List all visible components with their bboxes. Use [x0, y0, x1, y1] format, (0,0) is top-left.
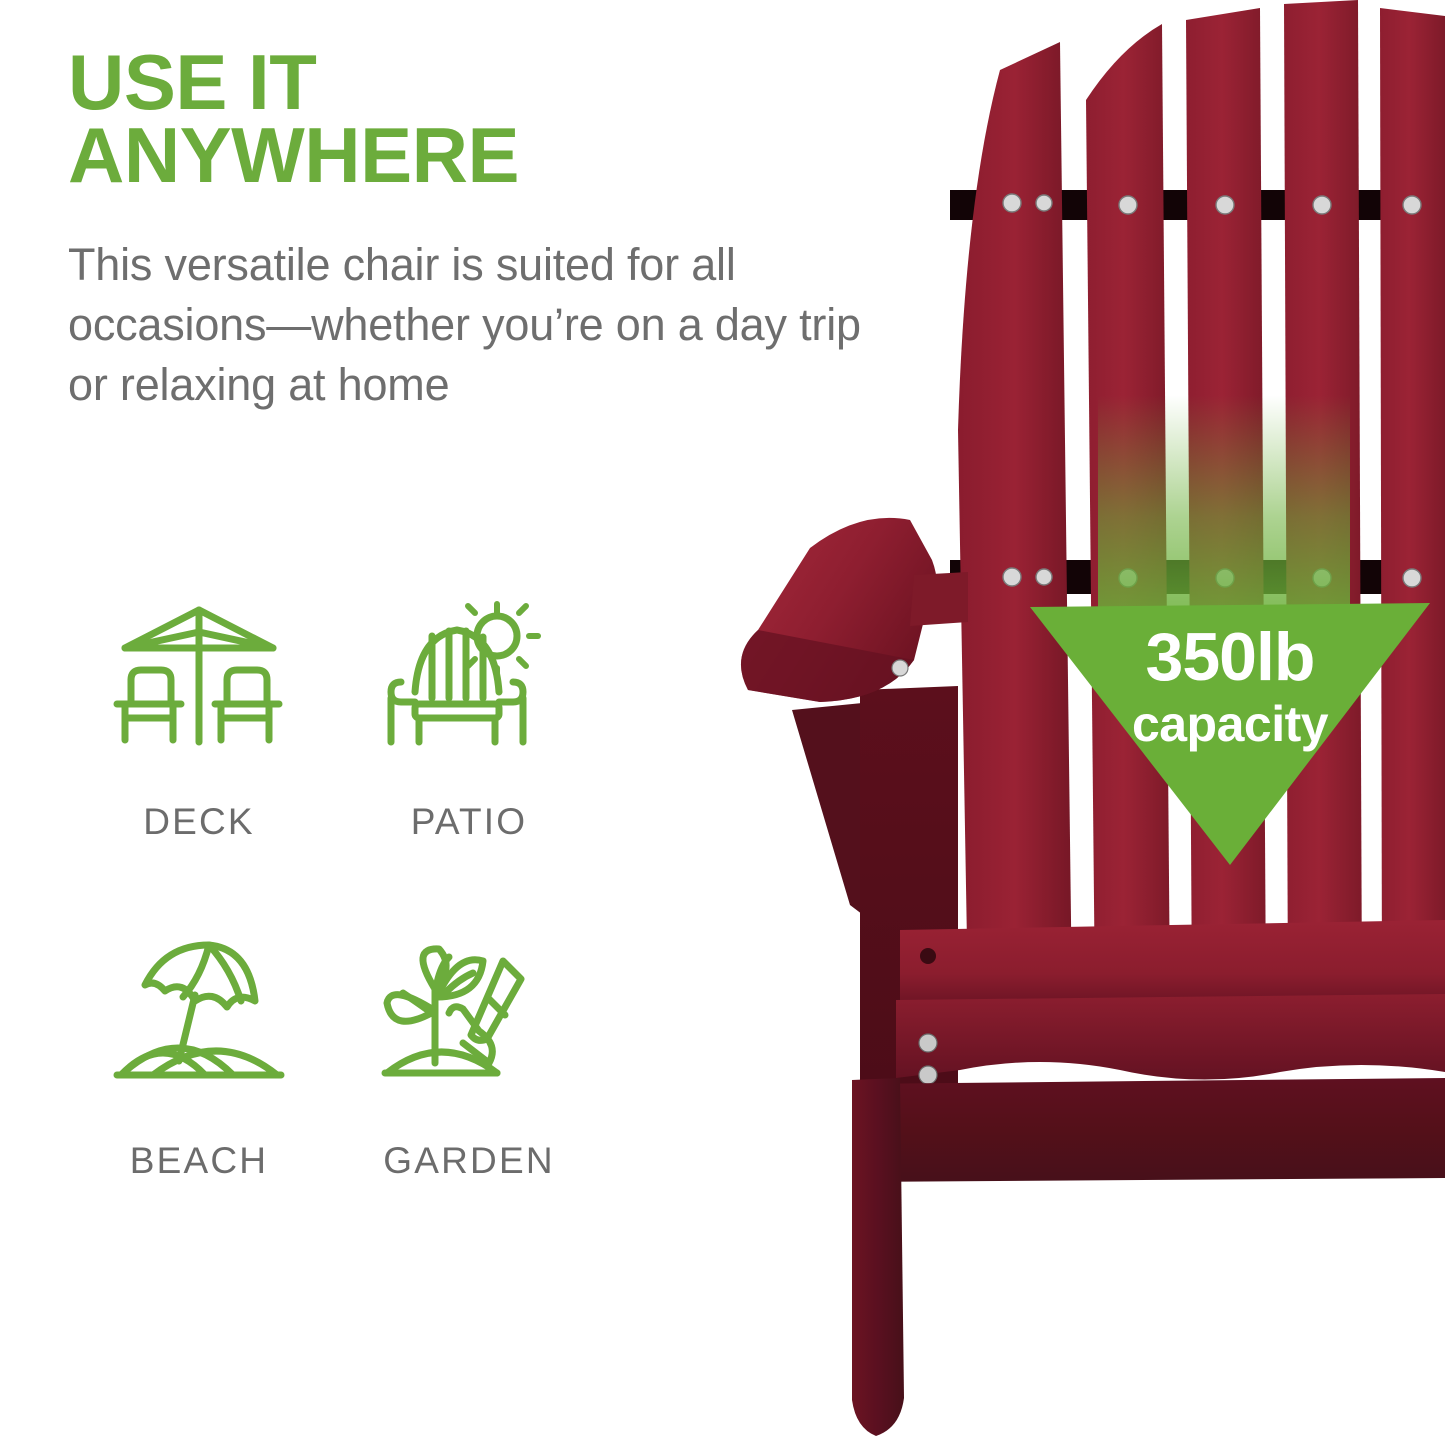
use-case-patio: PATIO [344, 600, 594, 843]
seedling-trowel-icon [379, 939, 559, 1114]
umbrella-two-chairs-icon [109, 600, 289, 775]
chair-front-apron [896, 994, 1445, 1080]
use-case-grid: DECK [74, 600, 594, 1182]
use-case-deck: DECK [74, 600, 324, 843]
page-headline: USE IT ANYWHERE [68, 46, 908, 191]
use-case-label: BEACH [130, 1140, 268, 1182]
chair-front-leg [852, 1078, 904, 1436]
use-case-label: DECK [143, 801, 255, 843]
use-case-beach: BEACH [74, 939, 324, 1182]
chair-arm-screw [892, 660, 908, 676]
chair-seat-rail-hole [920, 948, 936, 964]
use-case-garden: GARDEN [344, 939, 594, 1182]
use-case-label: PATIO [411, 801, 528, 843]
beach-umbrella-dune-icon [109, 939, 289, 1114]
adirondack-chair-sun-icon [379, 600, 559, 775]
page-subcopy: This versatile chair is suited for all o… [68, 235, 898, 415]
product-feature-image: USE IT ANYWHERE This versatile chair is … [0, 0, 1445, 1445]
chair-front-rail [852, 1078, 1445, 1182]
use-case-label: GARDEN [383, 1140, 555, 1182]
capacity-arrow-shaft [1098, 395, 1350, 665]
chair-arm-stretcher [910, 572, 968, 626]
copy-block: USE IT ANYWHERE This versatile chair is … [68, 46, 908, 415]
